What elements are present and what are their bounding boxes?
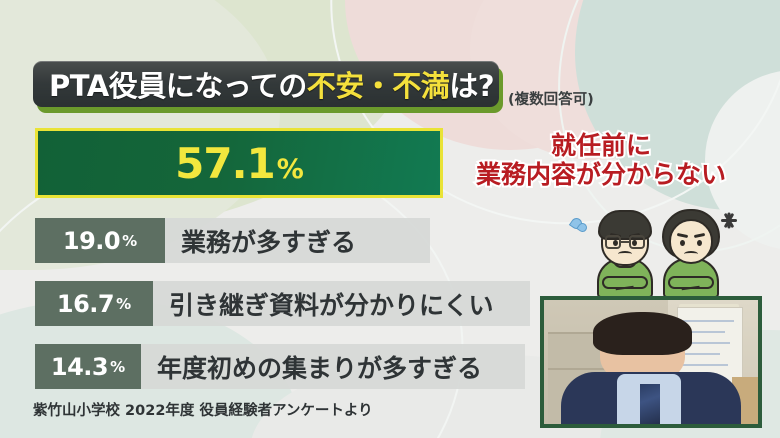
bar-row-4: 14.3 % 年度初めの集まりが多すぎる	[35, 344, 482, 389]
bar-row-2-label: 業務が多すぎる	[181, 223, 356, 259]
bar-row-3-value: 16.7	[57, 290, 114, 318]
bar-row-2-value: 19.0	[63, 227, 120, 255]
bar-row-3-value-box: 16.7 %	[35, 281, 153, 326]
headline-text-before: PTA役員になっての	[49, 69, 307, 103]
illustration-characters	[585, 206, 735, 298]
woman-character	[659, 206, 723, 298]
man-eye-right	[632, 240, 637, 246]
bar-row-top: 57.1%	[35, 128, 443, 198]
headline-text-after: は?	[449, 69, 494, 103]
glasses-icon	[605, 235, 647, 249]
video-person-hair	[593, 312, 691, 354]
headline-note: (複数回答可)	[508, 88, 594, 109]
bar-row-4-value: 14.3	[51, 353, 108, 381]
headline-text: PTA役員になっての不安・不満は?	[49, 63, 494, 105]
man-eye-left	[613, 240, 618, 246]
bar-top-value-number: 57.1	[175, 139, 275, 188]
man-mouth	[618, 251, 632, 257]
woman-face	[669, 219, 713, 264]
bar-row-4-label: 年度初めの集まりが多すぎる	[157, 349, 482, 385]
bar-row-2-percent-sign: %	[122, 232, 137, 250]
headline-banner-body: PTA役員になっての不安・不満は?	[33, 61, 499, 107]
bar-row-2-value-box: 19.0 %	[35, 218, 165, 263]
anger-mark-icon	[721, 212, 737, 228]
bar-top-percent-sign: %	[277, 154, 303, 185]
man-with-glasses-character	[593, 206, 657, 298]
woman-eye-right	[697, 240, 702, 246]
bar-row-3: 16.7 % 引き継ぎ資料が分かりにくい	[35, 281, 494, 326]
bar-row-2: 19.0 % 業務が多すぎる	[35, 218, 356, 263]
headline-text-highlight: 不安・不満	[307, 69, 450, 103]
video-inset	[540, 296, 762, 428]
sweat-drop-icon	[571, 216, 587, 230]
woman-eye-left	[680, 240, 685, 246]
top-result-callout: 就任前に 業務内容が分からない	[440, 132, 762, 190]
woman-mouth	[684, 251, 698, 257]
bar-row-3-percent-sign: %	[116, 295, 131, 313]
bar-row-4-percent-sign: %	[110, 358, 125, 376]
bar-row-4-value-box: 14.3 %	[35, 344, 141, 389]
callout-line-1: 就任前に	[440, 132, 762, 161]
video-person-tie	[640, 384, 659, 424]
callout-line-2: 業務内容が分からない	[440, 161, 762, 190]
bar-row-3-label: 引き継ぎ資料が分かりにくい	[169, 286, 494, 322]
broadcast-graphic: PTA役員になっての不安・不満は? (複数回答可) 57.1% 就任前に 業務内…	[0, 0, 780, 438]
headline-banner: PTA役員になっての不安・不満は?	[33, 61, 499, 107]
source-note: 紫竹山小学校 2022年度 役員経験者アンケートより	[33, 399, 373, 420]
bar-top-value: 57.1%	[175, 139, 303, 188]
